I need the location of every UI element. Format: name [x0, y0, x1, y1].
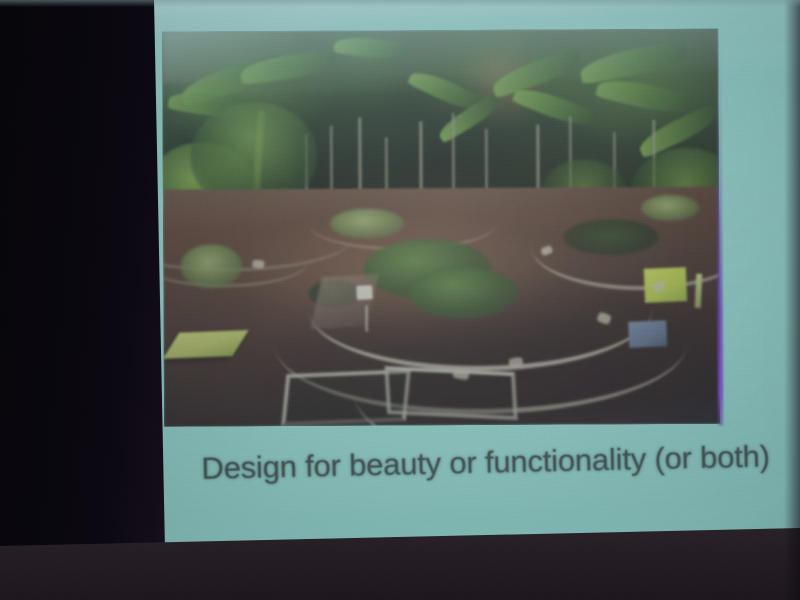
slide-caption: Design for beauty or functionality (or b… [165, 438, 800, 488]
projected-slide-photograph: Design for beauty or functionality (or b… [0, 0, 800, 600]
garden-photograph [162, 29, 720, 427]
room-left-shadow [0, 0, 176, 600]
vegetable-bed [180, 244, 242, 288]
screen-top-highlight [0, 0, 800, 7]
presentation-slide: Design for beauty or functionality (or b… [137, 0, 800, 576]
blue-panel-right [628, 321, 667, 349]
slide-photo-frame [162, 29, 720, 427]
room-right-shadow [784, 0, 800, 600]
vegetable-bed [330, 208, 404, 238]
plant-label [356, 285, 373, 300]
cold-frame-2 [385, 366, 518, 420]
vegetable-bed [563, 219, 659, 256]
vegetable-bed [408, 267, 518, 320]
yellow-panel-right [643, 267, 686, 303]
plant-label-stake [366, 305, 368, 331]
edging-stone [252, 260, 265, 269]
vegetable-bed [641, 195, 699, 221]
